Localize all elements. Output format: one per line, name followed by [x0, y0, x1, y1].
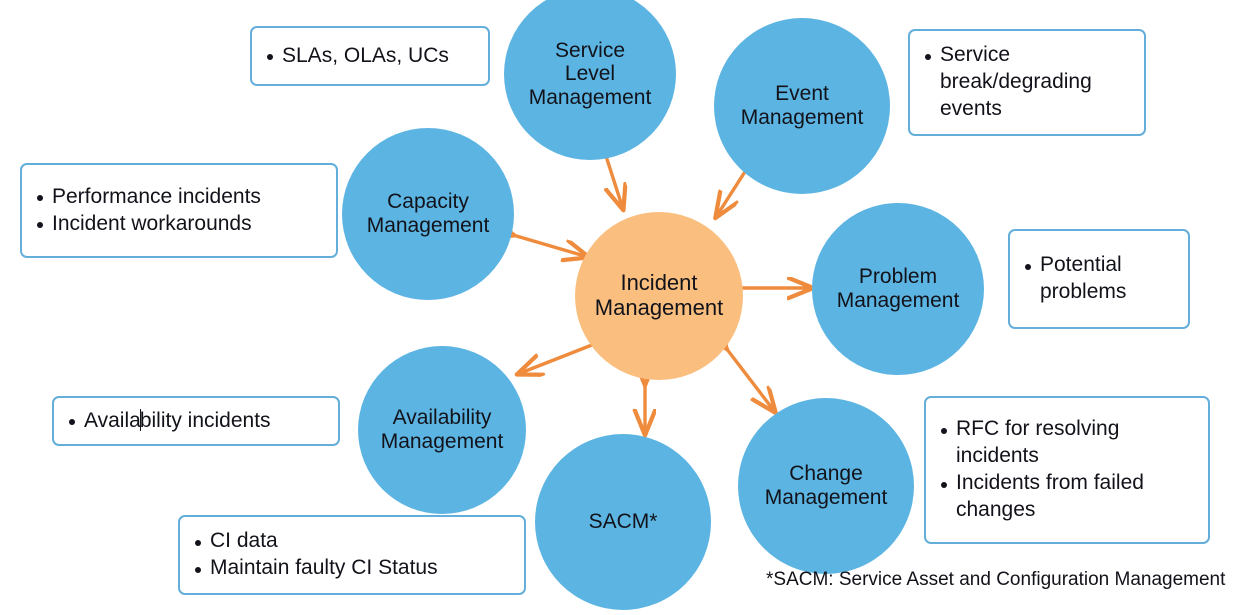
- list-item: Potential problems: [1040, 252, 1178, 306]
- node-capacity-management-label: Capacity Management: [361, 190, 496, 237]
- node-problem-management-label: Problem Management: [831, 265, 966, 312]
- node-availability-management-label: Availability Management: [375, 406, 510, 453]
- availability-text-before-caret: Availa: [84, 409, 141, 432]
- node-change-management[interactable]: Change Management: [738, 398, 914, 574]
- list-item: Incident workarounds: [52, 211, 326, 238]
- callout-change-management: RFC for resolving incidents Incidents fr…: [924, 396, 1210, 544]
- availability-text-after-caret: bility incidents: [140, 409, 271, 432]
- arrow-capacity-incident-bidirectional: [513, 235, 588, 257]
- callout-event-management: Service break/degrading events: [908, 29, 1146, 136]
- arrow-incident-to-availability: [518, 343, 597, 374]
- node-sacm[interactable]: SACM*: [535, 434, 711, 610]
- callout-sacm: CI data Maintain faulty CI Status: [178, 515, 526, 595]
- diagram-canvas: Service Level Management Event Managemen…: [0, 0, 1242, 615]
- node-event-management[interactable]: Event Management: [714, 18, 890, 194]
- callout-service-level-list: SLAs, OLAs, UCs: [260, 43, 478, 70]
- node-event-management-label: Event Management: [735, 82, 870, 129]
- arrow-incident-change-bidirectional: [726, 348, 775, 412]
- node-capacity-management[interactable]: Capacity Management: [342, 128, 514, 300]
- node-service-level-management[interactable]: Service Level Management: [504, 0, 676, 160]
- list-item: CI data: [210, 528, 514, 555]
- node-availability-management[interactable]: Availability Management: [358, 346, 526, 514]
- list-item: Maintain faulty CI Status: [210, 555, 514, 582]
- callout-capacity-management: Performance incidents Incident workaroun…: [20, 163, 338, 258]
- list-item: Performance incidents: [52, 184, 326, 211]
- node-sacm-label: SACM*: [583, 510, 664, 534]
- node-incident-management[interactable]: Incident Management: [575, 212, 743, 380]
- callout-event-list: Service break/degrading events: [918, 42, 1134, 123]
- callout-availability-list: Availability incidents: [62, 408, 328, 435]
- list-item: Service break/degrading events: [940, 42, 1134, 123]
- callout-capacity-list: Performance incidents Incident workaroun…: [30, 184, 326, 238]
- node-incident-management-label: Incident Management: [589, 271, 729, 320]
- callout-problem-list: Potential problems: [1018, 252, 1178, 306]
- callout-service-level-management: SLAs, OLAs, UCs: [250, 26, 490, 86]
- callout-sacm-list: CI data Maintain faulty CI Status: [188, 528, 514, 582]
- callout-availability-management: Availability incidents: [52, 396, 340, 446]
- callout-change-list: RFC for resolving incidents Incidents fr…: [934, 416, 1198, 524]
- node-change-management-label: Change Management: [759, 462, 894, 509]
- list-item: SLAs, OLAs, UCs: [282, 43, 478, 70]
- node-service-level-management-label: Service Level Management: [523, 39, 658, 110]
- callout-problem-management: Potential problems: [1008, 229, 1190, 329]
- list-item: Availability incidents: [84, 408, 328, 435]
- list-item: RFC for resolving incidents: [956, 416, 1198, 470]
- list-item: Incidents from failed changes: [956, 470, 1198, 524]
- footnote-sacm: *SACM: Service Asset and Configuration M…: [766, 569, 1225, 591]
- node-problem-management[interactable]: Problem Management: [812, 203, 984, 375]
